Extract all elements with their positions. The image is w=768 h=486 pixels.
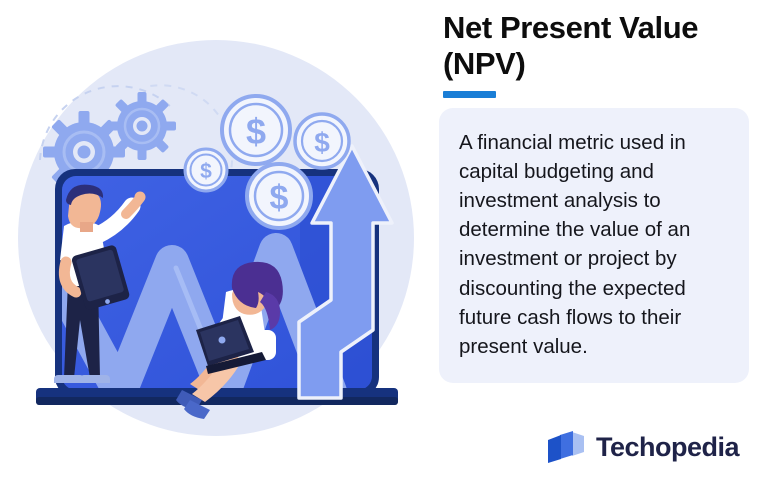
- laptop-base-shadow: [36, 397, 398, 405]
- svg-text:$: $: [270, 179, 289, 217]
- definition-card: A financial metric used in capital budge…: [439, 108, 749, 383]
- svg-text:$: $: [246, 111, 266, 152]
- npv-growth-illustration: $ $ $ $: [0, 0, 430, 486]
- coin-large-bottom: $: [247, 164, 311, 228]
- coin-small: $: [185, 149, 227, 191]
- coin-large-top: $: [222, 96, 290, 164]
- page-title: Net Present Value (NPV): [443, 10, 753, 82]
- screenshot-root: $ $ $ $: [0, 0, 768, 486]
- coin-medium-right: $: [295, 114, 349, 168]
- techopedia-logo[interactable]: Techopedia: [545, 430, 739, 464]
- techopedia-wordmark: Techopedia: [596, 434, 739, 461]
- title-accent-bar: [443, 91, 496, 98]
- definition-text: A financial metric used in capital budge…: [459, 128, 729, 361]
- content-panel: Net Present Value (NPV) A financial metr…: [430, 0, 768, 486]
- title-block: Net Present Value (NPV): [443, 10, 753, 98]
- techopedia-mark-icon: [545, 430, 587, 464]
- svg-text:$: $: [314, 127, 330, 158]
- svg-text:$: $: [200, 160, 212, 183]
